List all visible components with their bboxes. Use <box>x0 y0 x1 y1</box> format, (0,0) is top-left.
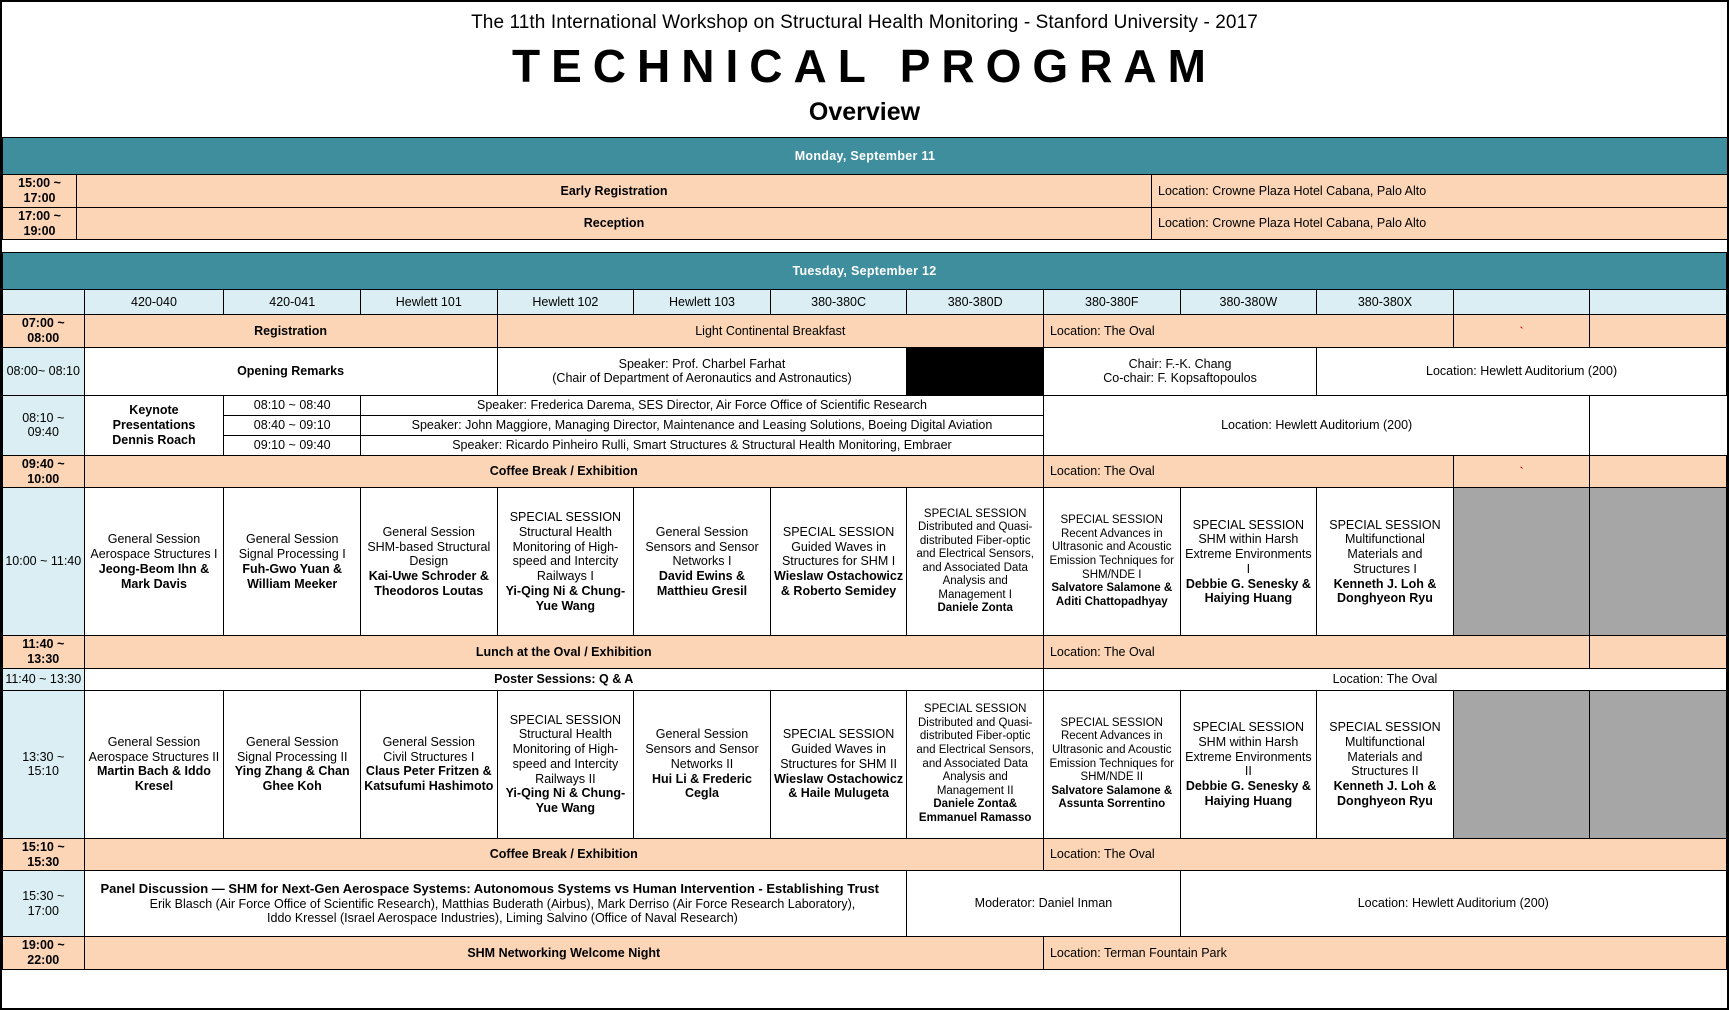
session-topic: Guided Waves in Structures for SHM I <box>773 540 905 570</box>
session-kind: SPECIAL SESSION <box>1183 518 1315 533</box>
session-topic: Sensors and Sensor Networks II <box>636 742 768 772</box>
session-chairs: Jeong-Beom Ihn & Mark Davis <box>87 562 222 592</box>
monday-table: Monday, September 11 15:00 ~ 17:00 Early… <box>2 137 1728 240</box>
session-topic: Guided Waves in Structures for SHM II <box>773 742 905 772</box>
time-label: 11:40 ~ 13:30 <box>3 668 85 690</box>
session-topic: SHM within Harsh Extreme Environments I <box>1183 532 1315 576</box>
time-label: 09:40 ~ 10:00 <box>3 455 85 488</box>
keynote-talk-speaker: Speaker: Ricardo Pinheiro Rulli, Smart S… <box>361 435 1044 455</box>
keynote-label: Keynote Presentations Dennis Roach <box>84 395 224 455</box>
coffee-break-am-location: Location: The Oval <box>1043 455 1453 488</box>
keynote-talk-speaker: Speaker: Frederica Darema, SES Director,… <box>361 395 1044 415</box>
registration-title: Registration <box>84 315 497 348</box>
session-topic: SHM-based Structural Design <box>363 540 495 570</box>
event-location: Location: Crowne Plaza Hotel Cabana, Pal… <box>1152 175 1728 208</box>
keynote-talk-time: 08:10 ~ 08:40 <box>224 395 361 415</box>
session-cell-380-380f-am[interactable]: SPECIAL SESSION Recent Advances in Ultra… <box>1043 488 1180 636</box>
time-label: 11:40 ~ 13:30 <box>3 636 85 669</box>
coffee-am-mark: ` <box>1453 455 1590 488</box>
panel-discussion-title: Panel Discussion — SHM for Next-Gen Aero… <box>101 881 905 896</box>
room-header-row: 420-040 420-041 Hewlett 101 Hewlett 102 … <box>3 290 1727 315</box>
room-header-380-380f: 380-380F <box>1043 290 1180 315</box>
session-kind: SPECIAL SESSION <box>1046 717 1178 731</box>
registration-row: 07:00 ~ 08:00 Registration Light Contine… <box>3 315 1727 348</box>
lunch-pad <box>1590 636 1727 669</box>
session-chairs: Martin Bach & Iddo Kresel <box>87 764 222 794</box>
session-topic: Recent Advances in Ultrasonic and Acoust… <box>1046 528 1178 582</box>
panel-discussion-row: 15:30 ~ 17:00 Panel Discussion — SHM for… <box>3 871 1727 937</box>
session-cell-380-380d-am[interactable]: SPECIAL SESSION Distributed and Quasi-di… <box>907 488 1044 636</box>
session-cell-420-040-am[interactable]: General Session Aerospace Structures I J… <box>84 488 224 636</box>
table-row: 15:00 ~ 17:00 Early Registration Locatio… <box>3 175 1728 208</box>
time-label: 07:00 ~ 08:00 <box>3 315 85 348</box>
coffee-break-pm-row: 15:10 ~ 15:30 Coffee Break / Exhibition … <box>3 838 1727 871</box>
session-cell-hewlett-102-am[interactable]: SPECIAL SESSION Structural Health Monito… <box>497 488 634 636</box>
session-topic: Aerospace Structures I <box>87 547 222 562</box>
registration-location: Location: The Oval <box>1043 315 1453 348</box>
session-kind: General Session <box>363 525 495 540</box>
room-header-extra-1 <box>1453 290 1590 315</box>
session-cell-380-380f-pm[interactable]: SPECIAL SESSION Recent Advances in Ultra… <box>1043 690 1180 838</box>
coffee-break-pm-location: Location: The Oval <box>1043 838 1726 871</box>
session-chairs: Wieslaw Ostachowicz & Haile Mulugeta <box>773 772 905 802</box>
panel-panelists-line2: Iddo Kressel (Israel Aerospace Industrie… <box>101 911 905 926</box>
session-kind: General Session <box>226 735 358 750</box>
session-kind: General Session <box>636 525 768 540</box>
session-topic: Multifunctional Materials and Structures… <box>1319 532 1451 576</box>
time-label: 10:00 ~ 11:40 <box>3 488 85 636</box>
session-cell-hewlett-103-am[interactable]: General Session Sensors and Sensor Netwo… <box>634 488 771 636</box>
time-label: 17:00 ~ 19:00 <box>3 207 77 240</box>
page-title: TECHNICAL PROGRAM <box>2 42 1727 90</box>
session-topic: Aerospace Structures II <box>87 750 222 765</box>
panel-location: Location: Hewlett Auditorium (200) <box>1180 871 1726 937</box>
session-cell-380-380d-pm[interactable]: SPECIAL SESSION Distributed and Quasi-di… <box>907 690 1044 838</box>
session-cell-380-380c-pm[interactable]: SPECIAL SESSION Guided Waves in Structur… <box>770 690 907 838</box>
session-topic: Civil Structures I <box>363 750 495 765</box>
unused-cell-pm-1 <box>1453 690 1590 838</box>
session-cell-420-041-pm[interactable]: General Session Signal Processing II Yin… <box>224 690 361 838</box>
session-cell-380-380x-am[interactable]: SPECIAL SESSION Multifunctional Material… <box>1317 488 1454 636</box>
lunch-title: Lunch at the Oval / Exhibition <box>84 636 1043 669</box>
evening-event-row: 19:00 ~ 22:00 SHM Networking Welcome Nig… <box>3 937 1727 970</box>
time-label: 08:00~ 08:10 <box>3 347 85 395</box>
coffee-break-pm-title: Coffee Break / Exhibition <box>84 838 1043 871</box>
room-header-380-380x: 380-380X <box>1317 290 1454 315</box>
session-cell-380-380c-am[interactable]: SPECIAL SESSION Guided Waves in Structur… <box>770 488 907 636</box>
session-cell-380-380w-pm[interactable]: SPECIAL SESSION SHM within Harsh Extreme… <box>1180 690 1317 838</box>
session-chairs: Debbie G. Senesky & Haiying Huang <box>1183 577 1315 607</box>
time-label: 15:30 ~ 17:00 <box>3 871 85 937</box>
tuesday-day-band-row: Tuesday, September 12 <box>3 253 1727 290</box>
workshop-line: The 11th International Workshop on Struc… <box>2 12 1727 34</box>
session-chairs: Salvatore Salamone & Aditi Chattopadhyay <box>1046 582 1178 609</box>
session-kind: SPECIAL SESSION <box>1046 514 1178 528</box>
panel-discussion-body[interactable]: Panel Discussion — SHM for Next-Gen Aero… <box>84 871 907 937</box>
event-title: Early Registration <box>77 175 1152 208</box>
morning-sessions-row: 10:00 ~ 11:40 General Session Aerospace … <box>3 488 1727 636</box>
session-kind: General Session <box>87 532 222 547</box>
session-topic: Signal Processing II <box>226 750 358 765</box>
unused-cell-pm-2 <box>1590 690 1727 838</box>
room-header-extra-2 <box>1590 290 1727 315</box>
red-tick-icon: ` <box>1520 326 1524 338</box>
session-chairs: Kenneth J. Loh & Donghyeon Ryu <box>1319 577 1451 607</box>
unused-cell-am-2 <box>1590 488 1727 636</box>
session-chairs: Wieslaw Ostachowicz & Roberto Semidey <box>773 569 905 599</box>
session-topic: Distributed and Quasi-distributed Fiber-… <box>909 717 1041 798</box>
session-topic: Multifunctional Materials and Structures… <box>1319 735 1451 779</box>
room-header-380-380c: 380-380C <box>770 290 907 315</box>
registration-mark: ` <box>1453 315 1590 348</box>
session-chairs: Daniele Zonta& Emmanuel Ramasso <box>909 798 1041 825</box>
room-header-420-040: 420-040 <box>84 290 224 315</box>
opening-location: Location: Hewlett Auditorium (200) <box>1317 347 1727 395</box>
session-cell-hewlett-101-am[interactable]: General Session SHM-based Structural Des… <box>361 488 498 636</box>
table-row: 17:00 ~ 19:00 Reception Location: Crowne… <box>3 207 1728 240</box>
session-kind: SPECIAL SESSION <box>1319 518 1451 533</box>
session-chairs: Ying Zhang & Chan Ghee Koh <box>226 764 358 794</box>
panel-panelists-line1: Erik Blasch (Air Force Office of Scienti… <box>101 897 905 912</box>
session-chairs: Kenneth J. Loh & Donghyeon Ryu <box>1319 779 1451 809</box>
session-topic: Sensors and Sensor Networks I <box>636 540 768 570</box>
keynote-label-line1: Keynote <box>87 403 222 418</box>
session-topic: Recent Advances in Ultrasonic and Acoust… <box>1046 730 1178 784</box>
monday-day-label: Monday, September 11 <box>3 138 1728 175</box>
session-cell-420-040-pm[interactable]: General Session Aerospace Structures II … <box>84 690 224 838</box>
lunch-location: Location: The Oval <box>1043 636 1589 669</box>
opening-chair: Chair: F.-K. Chang <box>1046 357 1314 372</box>
unused-cell-am-1 <box>1453 488 1590 636</box>
opening-speaker-line1: Speaker: Prof. Charbel Farhat <box>500 357 905 372</box>
evening-event-title: SHM Networking Welcome Night <box>84 937 1043 970</box>
page-header: The 11th International Workshop on Struc… <box>2 2 1727 137</box>
time-label: 08:10 ~ 09:40 <box>3 395 85 455</box>
opening-cochair: Co-chair: F. Kopsaftopoulos <box>1046 371 1314 386</box>
session-kind: SPECIAL SESSION <box>1183 720 1315 735</box>
poster-sessions-title: Poster Sessions: Q & A <box>84 668 1043 690</box>
session-cell-hewlett-101-pm[interactable]: General Session Civil Structures I Claus… <box>361 690 498 838</box>
room-header-380-380d: 380-380D <box>907 290 1044 315</box>
red-tick-icon: ` <box>1520 466 1524 478</box>
opening-chairs: Chair: F.-K. Chang Co-chair: F. Kopsafto… <box>1043 347 1316 395</box>
coffee-am-pad <box>1590 455 1727 488</box>
opening-speaker-line2: (Chair of Department of Aeronautics and … <box>500 371 905 386</box>
lunch-row: 11:40 ~ 13:30 Lunch at the Oval / Exhibi… <box>3 636 1727 669</box>
opening-blackout-cell <box>907 347 1044 395</box>
room-header-hewlett-102: Hewlett 102 <box>497 290 634 315</box>
time-label: 15:00 ~ 17:00 <box>3 175 77 208</box>
room-header-blank <box>3 290 85 315</box>
event-location: Location: Crowne Plaza Hotel Cabana, Pal… <box>1152 207 1728 240</box>
session-kind: SPECIAL SESSION <box>500 713 632 728</box>
afternoon-sessions-row: 13:30 ~ 15:10 General Session Aerospace … <box>3 690 1727 838</box>
session-topic: SHM within Harsh Extreme Environments II <box>1183 735 1315 779</box>
session-kind: General Session <box>636 727 768 742</box>
keynote-talk-time: 09:10 ~ 09:40 <box>224 435 361 455</box>
technical-program-page: The 11th International Workshop on Struc… <box>0 0 1729 1010</box>
opening-remarks-row: 08:00~ 08:10 Opening Remarks Speaker: Pr… <box>3 347 1727 395</box>
room-header-420-041: 420-041 <box>224 290 361 315</box>
session-chairs: Debbie G. Senesky & Haiying Huang <box>1183 779 1315 809</box>
monday-day-band-row: Monday, September 11 <box>3 138 1728 175</box>
session-chairs: Claus Peter Fritzen & Katsufumi Hashimot… <box>363 764 495 794</box>
session-cell-hewlett-102-pm[interactable]: SPECIAL SESSION Structural Health Monito… <box>497 690 634 838</box>
time-label: 15:10 ~ 15:30 <box>3 838 85 871</box>
event-title: Reception <box>77 207 1152 240</box>
session-kind: SPECIAL SESSION <box>909 703 1041 717</box>
room-header-hewlett-101: Hewlett 101 <box>361 290 498 315</box>
keynote-location: Location: Hewlett Auditorium (200) <box>1043 395 1589 455</box>
poster-sessions-row: 11:40 ~ 13:30 Poster Sessions: Q & A Loc… <box>3 668 1727 690</box>
keynote-talk-speaker: Speaker: John Maggiore, Managing Directo… <box>361 415 1044 435</box>
opening-remarks-title: Opening Remarks <box>84 347 497 395</box>
session-topic: Distributed and Quasi-distributed Fiber-… <box>909 521 1041 602</box>
session-kind: General Session <box>87 735 222 750</box>
session-cell-420-041-am[interactable]: General Session Signal Processing I Fuh-… <box>224 488 361 636</box>
poster-sessions-location: Location: The Oval <box>1043 668 1726 690</box>
keynote-label-line2: Presentations <box>87 418 222 433</box>
session-kind: General Session <box>363 735 495 750</box>
session-topic: Signal Processing I <box>226 547 358 562</box>
panel-moderator: Moderator: Daniel Inman <box>907 871 1180 937</box>
session-chairs: David Ewins & Matthieu Gresil <box>636 569 768 599</box>
registration-pad <box>1590 315 1727 348</box>
opening-remarks-speaker: Speaker: Prof. Charbel Farhat (Chair of … <box>497 347 907 395</box>
session-kind: SPECIAL SESSION <box>773 727 905 742</box>
keynote-talk-time: 08:40 ~ 09:10 <box>224 415 361 435</box>
room-header-380-380w: 380-380W <box>1180 290 1317 315</box>
session-chairs: Salvatore Salamone & Assunta Sorrentino <box>1046 785 1178 812</box>
time-label: 19:00 ~ 22:00 <box>3 937 85 970</box>
session-cell-380-380x-pm[interactable]: SPECIAL SESSION Multifunctional Material… <box>1317 690 1454 838</box>
session-chairs: Hui Li & Frederic Cegla <box>636 772 768 802</box>
session-cell-hewlett-103-pm[interactable]: General Session Sensors and Sensor Netwo… <box>634 690 771 838</box>
session-topic: Structural Health Monitoring of High-spe… <box>500 525 632 584</box>
evening-event-location: Location: Terman Fountain Park <box>1043 937 1726 970</box>
tuesday-table: Tuesday, September 12 420-040 420-041 He… <box>2 252 1727 970</box>
session-chairs: Yi-Qing Ni & Chung-Yue Wang <box>500 584 632 614</box>
session-kind: SPECIAL SESSION <box>500 510 632 525</box>
session-kind: General Session <box>226 532 358 547</box>
session-chairs: Kai-Uwe Schroder & Theodoros Loutas <box>363 569 495 599</box>
session-kind: SPECIAL SESSION <box>1319 720 1451 735</box>
session-topic: Structural Health Monitoring of High-spe… <box>500 727 632 786</box>
session-chairs: Daniele Zonta <box>909 602 1041 616</box>
section-spacer <box>2 240 1727 252</box>
coffee-break-am-row: 09:40 ~ 10:00 Coffee Break / Exhibition … <box>3 455 1727 488</box>
session-chairs: Yi-Qing Ni & Chung-Yue Wang <box>500 786 632 816</box>
keynote-label-line3: Dennis Roach <box>87 433 222 448</box>
breakfast-title: Light Continental Breakfast <box>497 315 1043 348</box>
session-chairs: Fuh-Gwo Yuan & William Meeker <box>226 562 358 592</box>
coffee-break-am-title: Coffee Break / Exhibition <box>84 455 1043 488</box>
session-kind: SPECIAL SESSION <box>909 508 1041 522</box>
room-header-hewlett-103: Hewlett 103 <box>634 290 771 315</box>
session-cell-380-380w-am[interactable]: SPECIAL SESSION SHM within Harsh Extreme… <box>1180 488 1317 636</box>
page-subtitle: Overview <box>2 98 1727 127</box>
time-label: 13:30 ~ 15:10 <box>3 690 85 838</box>
keynote-row-1: 08:10 ~ 09:40 Keynote Presentations Denn… <box>3 395 1727 415</box>
tuesday-day-label: Tuesday, September 12 <box>3 253 1727 290</box>
session-kind: SPECIAL SESSION <box>773 525 905 540</box>
